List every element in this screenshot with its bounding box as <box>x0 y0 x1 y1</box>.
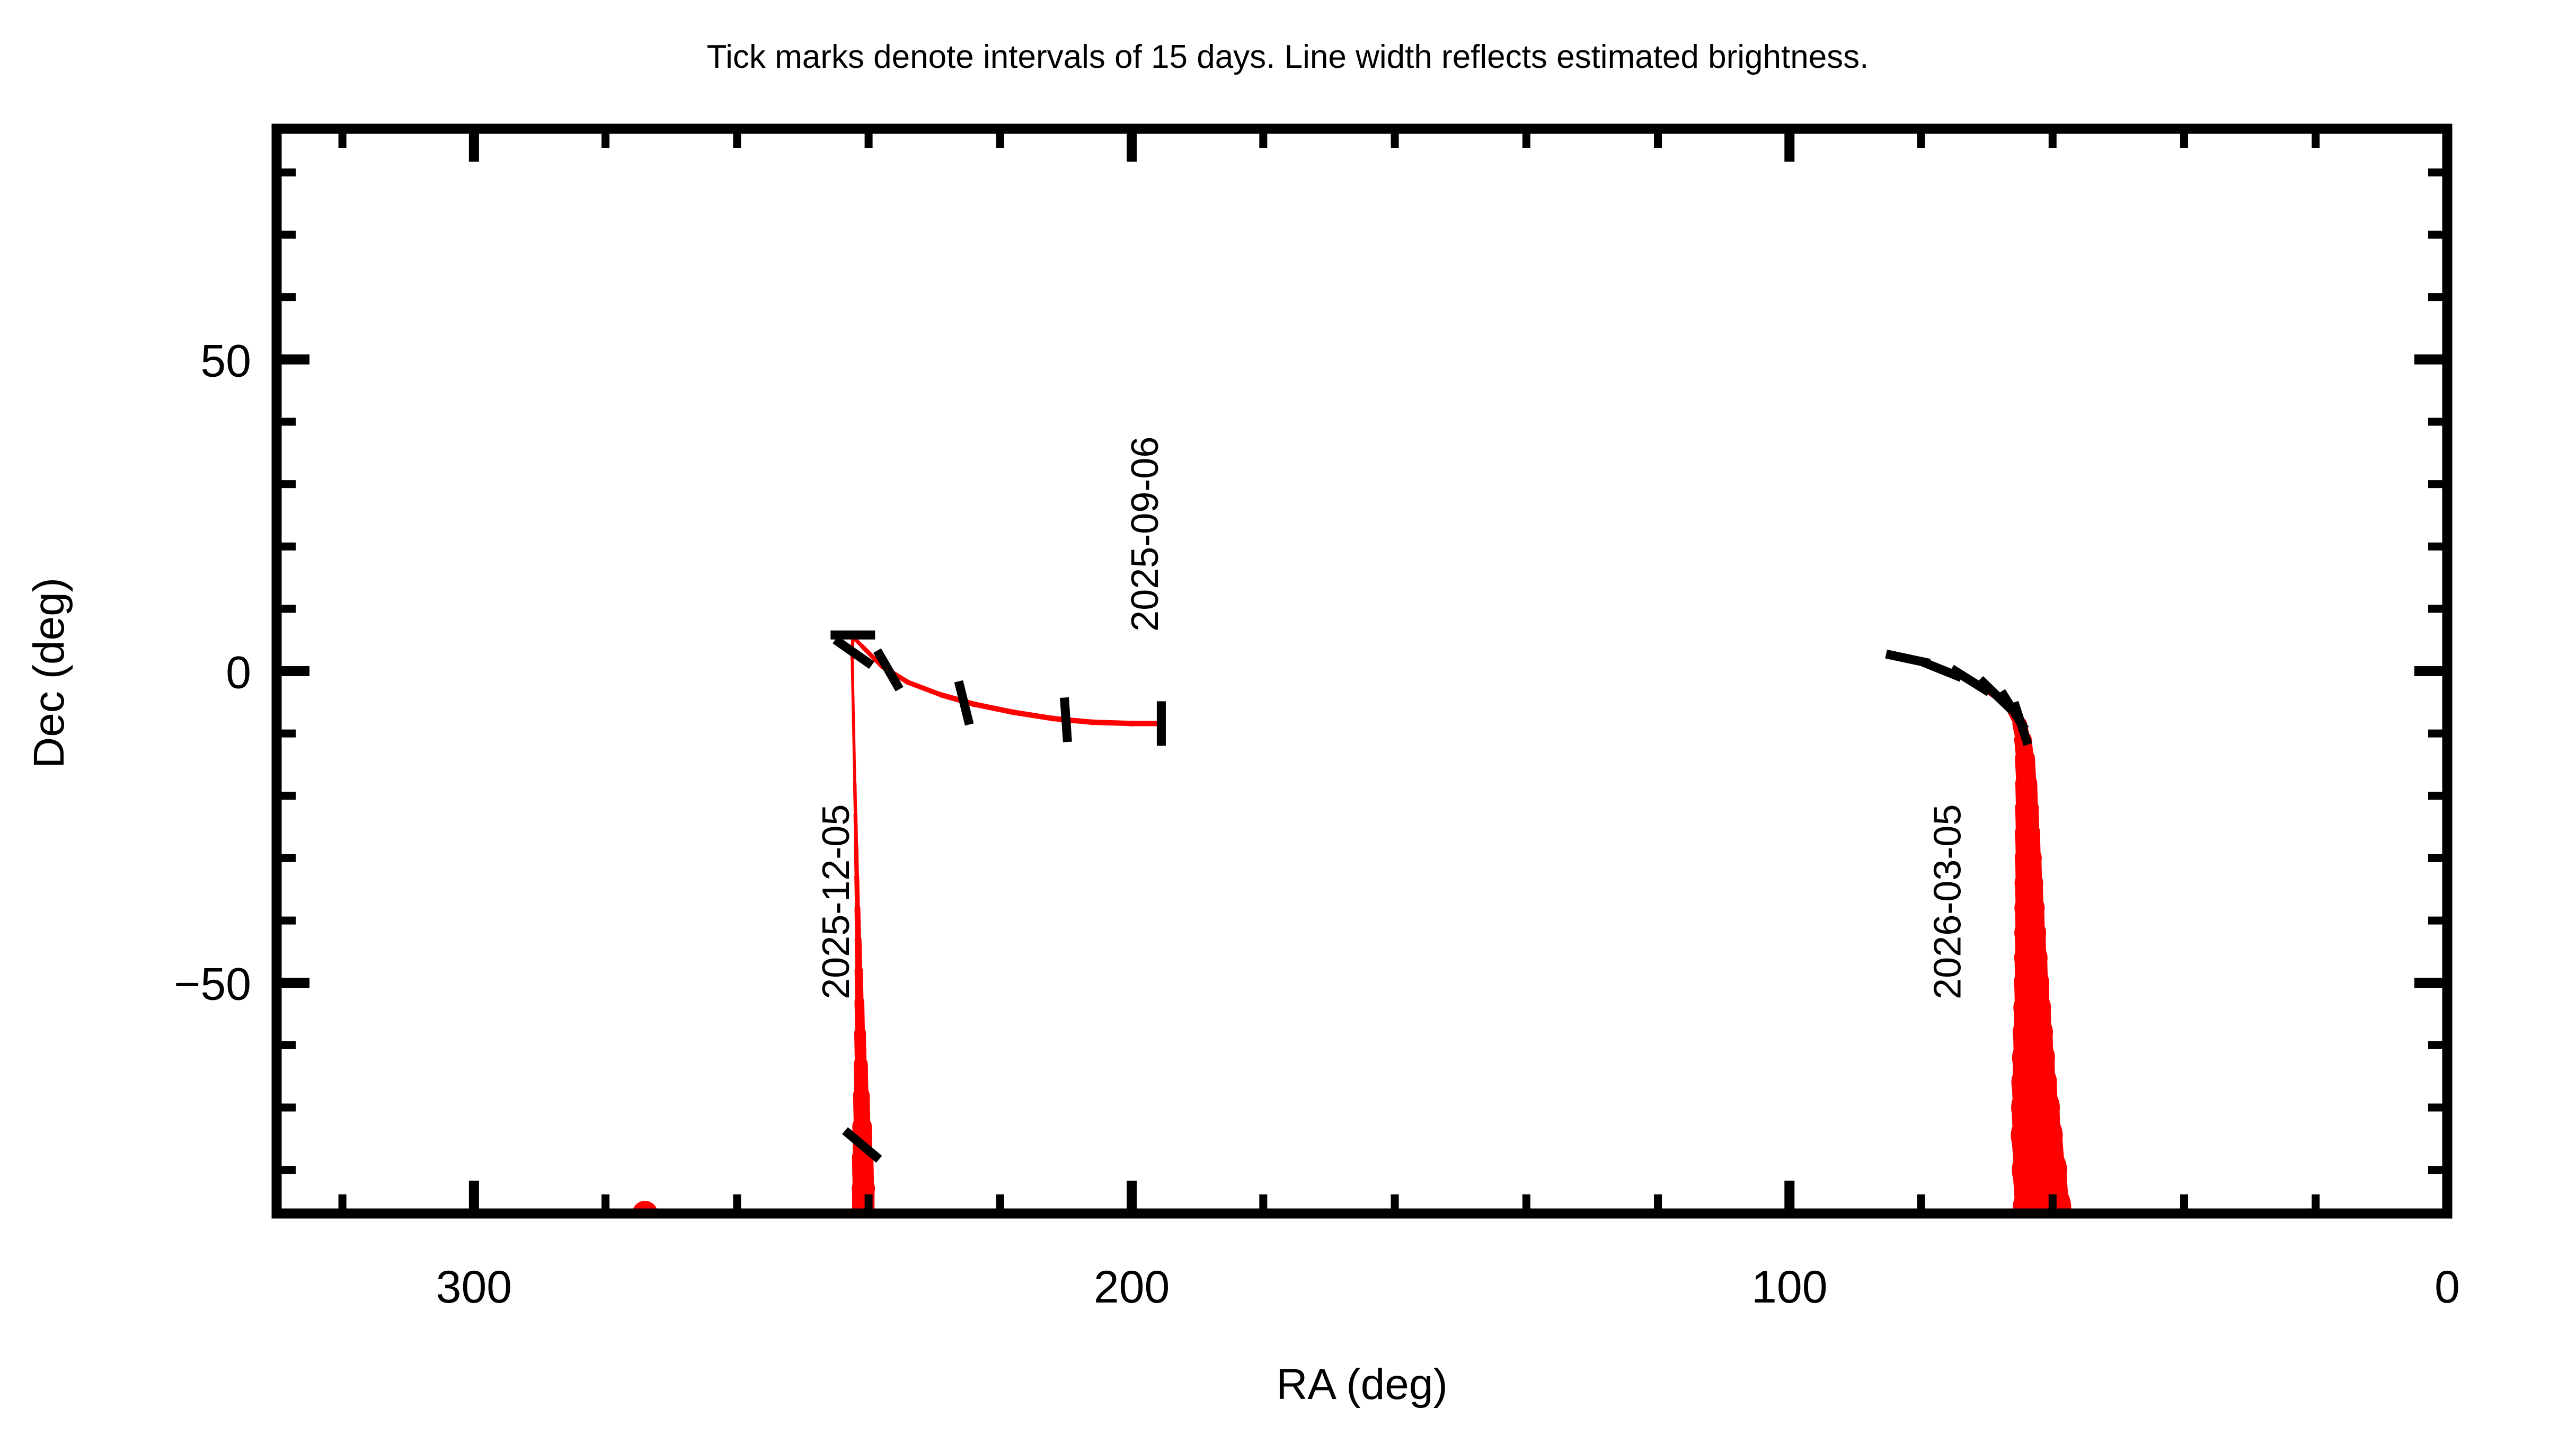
data-marker <box>2015 773 2037 794</box>
track-segment <box>854 752 855 783</box>
date-annotation: 2025-12-05 <box>815 804 857 999</box>
data-marker <box>853 1117 871 1135</box>
track-segment <box>858 970 859 1002</box>
x-axis-tick-label: 200 <box>1094 1262 1170 1313</box>
date-tick-mark <box>1065 697 1068 742</box>
chart-canvas: Tick marks denote intervals of 15 days. … <box>0 0 2576 1435</box>
y-axis-tick-label: 50 <box>200 335 251 386</box>
track-segment <box>1053 719 1092 722</box>
x-axis-tick-label: 300 <box>436 1262 512 1313</box>
data-marker <box>853 750 856 754</box>
data-marker <box>2015 820 2040 846</box>
data-marker <box>854 1087 869 1103</box>
chart-title: Tick marks denote intervals of 15 days. … <box>707 39 1869 75</box>
data-marker <box>2015 845 2042 872</box>
track-segment <box>853 690 853 721</box>
y-axis-tick-label: −50 <box>174 959 251 1010</box>
data-marker <box>2015 796 2039 820</box>
track-segment <box>858 939 858 970</box>
data-marker <box>854 1058 867 1070</box>
data-marker <box>860 644 864 648</box>
sky-track-chart: Tick marks denote intervals of 15 days. … <box>0 0 2576 1435</box>
x-axis-tick-label: 100 <box>1751 1262 1828 1313</box>
data-marker <box>852 720 855 723</box>
y-axis-label: Dec (deg) <box>25 578 73 768</box>
data-marker <box>971 701 977 707</box>
track-segment <box>852 659 853 690</box>
y-axis-tick-label: 0 <box>226 648 251 698</box>
date-annotation: 2026-03-05 <box>1927 804 1969 999</box>
chart-background <box>0 0 2576 1435</box>
track-segment <box>857 908 858 940</box>
data-marker <box>1129 721 1135 727</box>
data-marker <box>1050 715 1056 721</box>
data-marker <box>906 680 911 685</box>
data-marker <box>851 688 854 692</box>
x-axis-tick-label: 0 <box>2435 1262 2460 1313</box>
data-marker <box>1011 710 1016 715</box>
date-annotation: 2025-09-06 <box>1124 437 1166 632</box>
data-marker <box>2015 749 2034 768</box>
data-marker <box>939 692 944 697</box>
track-segment <box>1092 722 1131 723</box>
data-marker <box>855 1027 865 1038</box>
track-segment <box>854 721 854 752</box>
data-marker <box>1090 719 1095 725</box>
x-axis-label: RA (deg) <box>1276 1360 1448 1409</box>
data-marker <box>853 782 856 785</box>
